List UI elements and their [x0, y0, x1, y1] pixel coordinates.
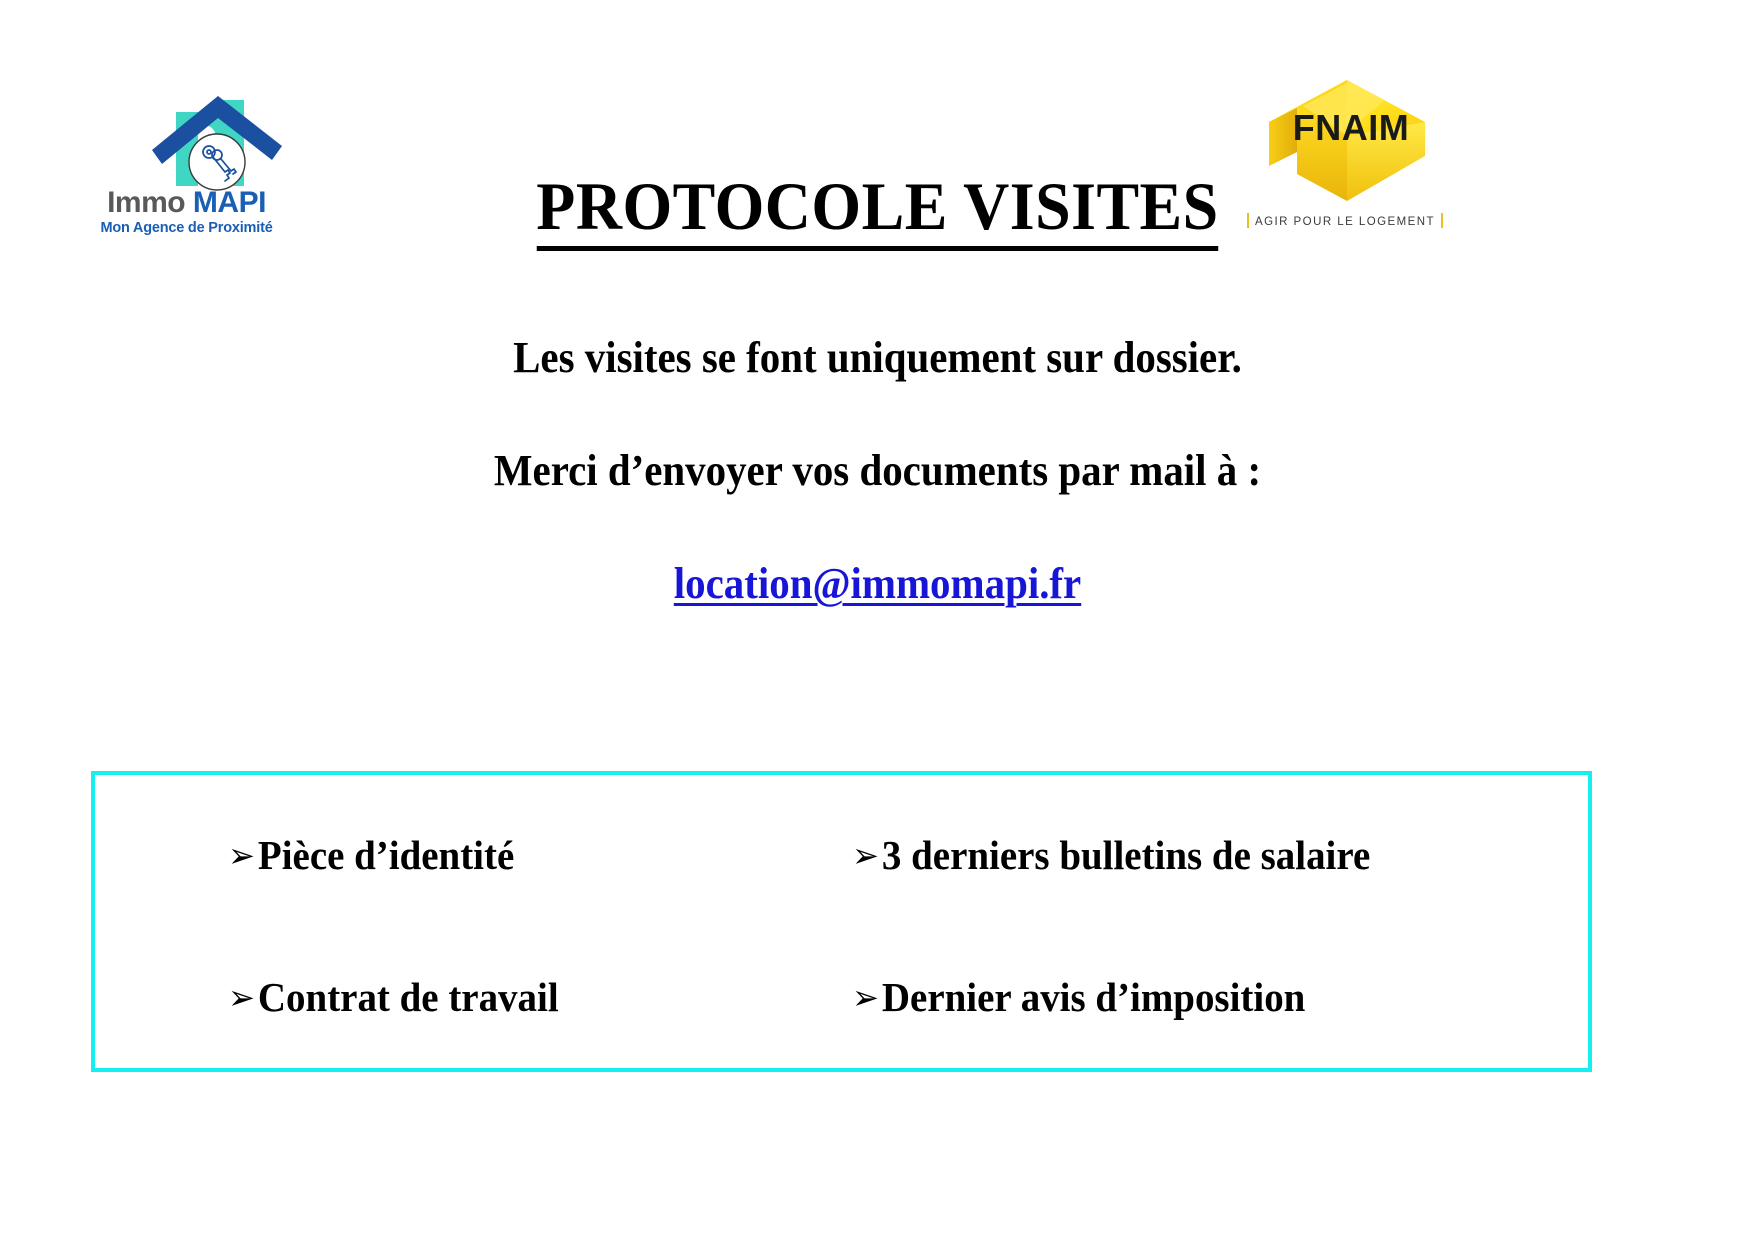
fnaim-cube-icon: FNAIM: [1267, 78, 1427, 203]
body-line-2: Merci d’envoyer vos documents par mail à…: [61, 449, 1693, 493]
fnaim-tagline-row: AGIR POUR LE LOGEMENT: [1245, 212, 1445, 230]
required-documents-box: ➢ Pièce d’identité ➢ 3 derniers bulletin…: [91, 771, 1592, 1072]
list-item: ➢ Contrat de travail: [228, 977, 821, 1018]
arrow-bullet-icon: ➢: [228, 981, 255, 1015]
document-label: Dernier avis d’imposition: [882, 977, 1305, 1018]
email-link[interactable]: location@immomapi.fr: [674, 559, 1081, 608]
page-title-text: PROTOCOLE VISITES: [536, 172, 1218, 251]
document-label: Pièce d’identité: [258, 835, 514, 876]
svg-text:FNAIM: FNAIM: [1293, 107, 1409, 148]
arrow-bullet-icon: ➢: [228, 839, 255, 873]
body-line-1: Les visites se font uniquement sur dossi…: [61, 336, 1693, 380]
page-title: PROTOCOLE VISITES: [53, 172, 1703, 251]
list-item: ➢ Dernier avis d’imposition: [852, 977, 1551, 1018]
fnaim-tagline: AGIR POUR LE LOGEMENT: [1249, 216, 1441, 228]
body-text-block: Les visites se font uniquement sur dossi…: [0, 336, 1755, 606]
fnaim-bar-right-icon: [1441, 213, 1443, 228]
fnaim-logo: FNAIM AGIR POUR LE LOGEMENT: [1245, 78, 1445, 248]
required-documents-grid: ➢ Pièce d’identité ➢ 3 derniers bulletin…: [95, 775, 1588, 1068]
body-line-email: location@immomapi.fr: [61, 562, 1693, 606]
document-label: Contrat de travail: [258, 977, 559, 1018]
document-label: 3 derniers bulletins de salaire: [882, 835, 1370, 876]
list-item: ➢ Pièce d’identité: [228, 835, 821, 876]
arrow-bullet-icon: ➢: [852, 839, 879, 873]
arrow-bullet-icon: ➢: [852, 981, 879, 1015]
document-header: Immo MAPI Mon Agence de Proximité PROTOC…: [0, 0, 1755, 270]
list-item: ➢ 3 derniers bulletins de salaire: [852, 835, 1551, 876]
